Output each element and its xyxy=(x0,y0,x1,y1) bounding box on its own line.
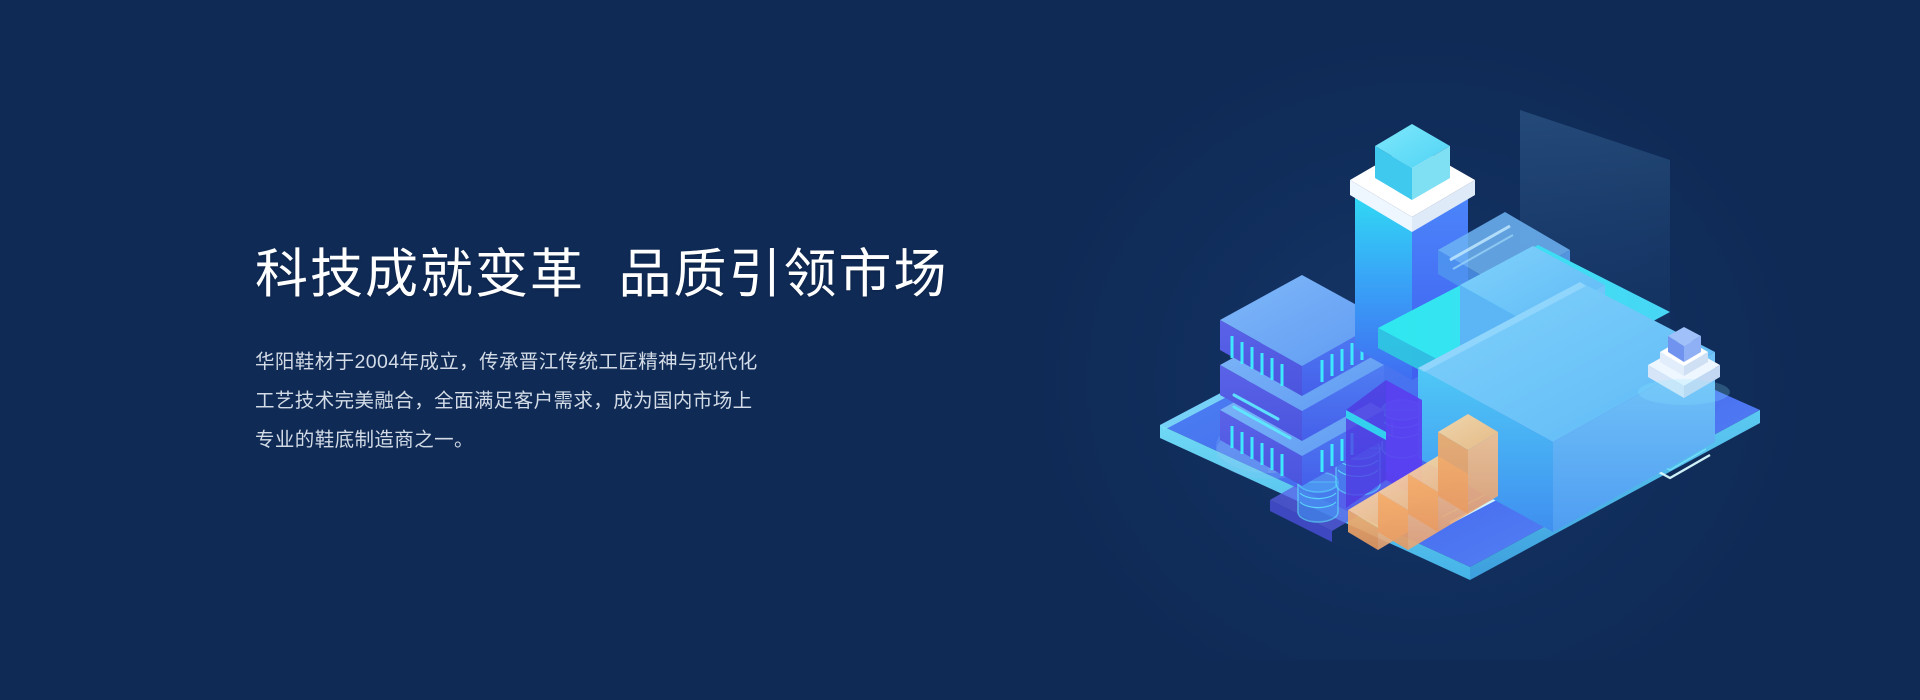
illustration-isometric-factory xyxy=(1150,80,1770,580)
hero-copy-block: 科技成就变革 品质引领市场 华阳鞋材于2004年成立，传承晋江传统工匠精神与现代… xyxy=(255,244,1075,479)
hero-banner: 科技成就变革 品质引领市场 华阳鞋材于2004年成立，传承晋江传统工匠精神与现代… xyxy=(0,0,1920,700)
hero-description: 华阳鞋材于2004年成立，传承晋江传统工匠精神与现代化 工艺技术完美融合，全面满… xyxy=(255,343,875,460)
page-title: 科技成就变革 品质引领市场 xyxy=(255,244,1075,307)
